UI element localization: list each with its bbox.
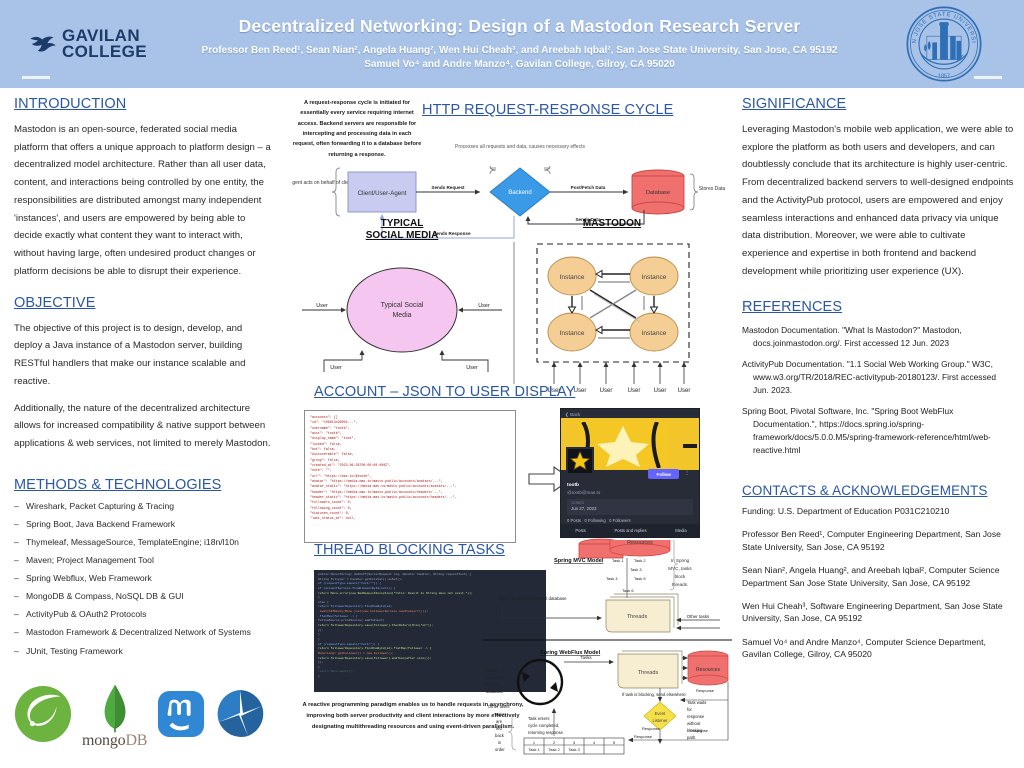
mvc-task-label: Task 1 — [612, 558, 624, 563]
json-code-block: "accounts": [] "id": "109613426004...", … — [304, 410, 516, 543]
list-item: Wireshark, Packet Capturing & Tracing — [14, 502, 272, 511]
fed-back-note-6: order — [495, 747, 505, 752]
contact-entry: Wen Hui Cheah³, Software Engineering Dep… — [742, 600, 1014, 625]
mvc-model-title: Spring MVC Model — [554, 558, 604, 564]
back-link[interactable]: ❮ Back — [561, 409, 699, 418]
heading-significance: SIGNIFICANCE — [742, 96, 1014, 112]
reference-item: ActivityPub Documentation. "1.1 Social W… — [742, 358, 1014, 397]
webflux-db-note-4: database — [486, 689, 504, 694]
right-column: SIGNIFICANCE Leveraging Mastodon's mobil… — [742, 96, 1014, 672]
webflux-tasks-label: Tasks — [580, 655, 592, 660]
methods-list: Wireshark, Packet Capturing & Tracing Sp… — [14, 502, 272, 655]
fed-back-note-3: fed — [496, 726, 502, 731]
reference-item: Mastodon Documentation. "What Is Mastodo… — [742, 324, 1014, 350]
contact-entry: Samuel Vo⁴ and Andre Manzo⁴, Computer Sc… — [742, 636, 1014, 661]
blocking-note: If task is blocking, send elsewhere: — [622, 692, 687, 697]
event-listener-label-2: Listener — [653, 718, 669, 723]
mongodb-text-db: DB — [125, 732, 147, 749]
arrow-label-sends-request: Sends Request — [431, 185, 465, 190]
cycle-note-3: returning response — [528, 730, 564, 735]
database-label: Database — [646, 190, 670, 196]
typical-user-label: User — [478, 303, 490, 309]
webflux-db-note-1: Needs — [486, 668, 498, 673]
user-label: User — [574, 388, 587, 394]
typical-node-label-1: Typical Social — [381, 302, 424, 309]
joined-field: JOINED Jun 27, 2023 — [567, 499, 693, 515]
thread-models-diagram: Spring MVC Model Resources Task 1 Task 2… — [482, 540, 732, 756]
heading-methods: METHODS & TECHNOLOGIES — [14, 477, 272, 493]
spring-logo-icon — [14, 685, 72, 743]
response-label: Response — [690, 728, 709, 733]
profile-handle: @tootb@mas.to — [567, 490, 600, 495]
follow-button[interactable]: Follow — [648, 469, 679, 479]
contact-entry: Sean Nian², Angela Huang², and Areebah I… — [742, 564, 1014, 589]
event-listener-label-1: Event — [655, 711, 667, 716]
typical-user-label: User — [316, 303, 328, 309]
joined-label: JOINED — [571, 501, 689, 505]
heading-http-cycle: HTTP REQUEST-RESPONSE CYCLE — [422, 102, 673, 118]
threads-label: Threads — [638, 670, 659, 676]
resources-label: Resources — [696, 667, 720, 673]
other-tasks-label: Other tasks — [687, 614, 710, 619]
mongodb-text-mongo: mongo — [82, 732, 125, 749]
header-text-block: Decentralized Networking: Design of a Ma… — [175, 16, 864, 73]
mvc-block-note-2: MVC, tasks — [668, 566, 692, 571]
heading-account-json: ACCOUNT – JSON TO USER DISPLAY — [314, 384, 575, 400]
thread-models-svg: Spring MVC Model Resources Task 1 Task 2… — [482, 540, 732, 756]
fed-back-note-4: back — [495, 733, 505, 738]
other-tasks-label-webflux: Other tasks — [488, 704, 509, 709]
poster-root: GAVILAN COLLEGE Decentralized Networking… — [0, 0, 1024, 768]
typical-title-line-1: TYPICAL — [381, 218, 424, 229]
mvc-block-note-3: block — [675, 574, 686, 579]
funding-line: Funding: U.S. Department of Education P0… — [742, 505, 1014, 517]
user-label: User — [628, 388, 641, 394]
mvc-task-label: Task 4 — [606, 576, 618, 581]
left-column: INTRODUCTION Mastodon is an open-source,… — [14, 96, 272, 665]
mvc-db-note: Needs to access external database — [498, 596, 567, 601]
list-item: ActivityPub & OAuth2 Protocols — [14, 610, 272, 619]
poster-authors-line-1: Professor Ben Reed¹, Sean Nian², Angela … — [181, 44, 858, 59]
list-item: Mastodon Framework & Decentralized Netwo… — [14, 628, 272, 637]
reference-item: Spring Boot, Pivotal Software, Inc. "Spr… — [742, 405, 1014, 457]
tab-posts-and-replies[interactable]: Posts and replies — [614, 528, 646, 533]
task-wait-note-6: path. — [687, 735, 696, 740]
instance-label: Instance — [642, 274, 667, 281]
sjsu-seal-icon: 1857 SAN JOSE STATE UNIVERSITY — [905, 5, 983, 83]
task-wait-note-1: Task waits — [687, 700, 706, 705]
contact-entry: Professor Ben Reed¹, Computer Engineerin… — [742, 528, 1014, 553]
significance-body: Leveraging Mastodon's mobile web applica… — [742, 121, 1014, 281]
joined-value: Jun 27, 2023 — [571, 506, 689, 511]
fed-back-note-1: Tasks — [494, 712, 505, 717]
tab-posts[interactable]: Posts — [575, 528, 585, 533]
college-text: COLLEGE — [62, 44, 147, 60]
mongodb-leaf-icon — [102, 682, 128, 734]
backend-diamond-label: Backend — [508, 190, 531, 196]
queue-task: Task 3 — [568, 747, 580, 752]
fed-back-note-2: are — [496, 719, 503, 724]
star-avatar-icon — [569, 450, 591, 472]
response-label: Response — [634, 734, 653, 739]
technology-logos: mongoDB — [14, 668, 294, 764]
database-note: Stores Data — [699, 186, 726, 192]
profile-tabs: Posts Posts and replies Media — [561, 524, 700, 537]
user-label: User — [654, 388, 667, 394]
mvc-task-label: Task 2 — [634, 558, 646, 563]
list-item: Thymeleaf, MessageSource, TemplateEngine… — [14, 538, 272, 547]
mastodon-logo-box — [157, 690, 205, 743]
webflux-db-note-3: external — [486, 682, 501, 687]
header-rule-right — [974, 76, 1002, 79]
client-box-label: Client/User-Agent — [358, 190, 407, 197]
heading-contacts: CONTACTS & ACKNOWLEDGEMENTS — [742, 483, 1014, 498]
mvc-block-note-1: In Spring — [671, 558, 690, 563]
response-label: Response — [696, 688, 715, 693]
threads-label: Threads — [627, 614, 648, 620]
typical-user-label: User — [466, 365, 478, 371]
poster-header: GAVILAN COLLEGE Decentralized Networking… — [0, 0, 1024, 88]
objective-paragraph-2: Additionally, the nature of the decentra… — [14, 400, 272, 453]
introduction-body: Mastodon is an open-source, federated so… — [14, 121, 272, 281]
eagle-icon — [28, 32, 58, 56]
user-label: User — [678, 388, 691, 394]
heading-thread-blocking: THREAD BLOCKING TASKS — [314, 542, 505, 558]
list-item: MongoDB & Compass, NoSQL DB & GUI — [14, 592, 272, 601]
spring-logo-box — [14, 685, 72, 748]
json-line: "last_status_at": null, — [310, 516, 512, 521]
more-options-icon[interactable]: ⋮ — [684, 469, 690, 476]
webflux-db-note-2: to access — [486, 675, 504, 680]
typical-user-label: User — [330, 365, 342, 371]
cycle-note-2: cycle completed, — [528, 723, 559, 728]
poster-authors-line-2: Samuel Vo⁴ and Andre Manzo⁴, Gavilan Col… — [181, 58, 858, 73]
avatar — [566, 447, 594, 475]
backend-note-line: Processes all requests and data, causes … — [455, 144, 585, 150]
gavilan-wordmark: GAVILAN COLLEGE — [62, 28, 147, 59]
resources-label: Resources — [627, 540, 653, 546]
mongodb-wordmark: mongoDB — [82, 732, 147, 750]
task-wait-note-3: response — [687, 714, 705, 719]
queue-task: Task 1 — [528, 747, 540, 752]
instance-label: Instance — [560, 274, 585, 281]
heading-introduction: INTRODUCTION — [14, 96, 272, 112]
profile-stats: 0 Posts 0 Following 0 Followers — [567, 518, 631, 523]
list-item: Spring Webflux, Web Framework — [14, 574, 272, 583]
arrow-label-post-fetch: Post/Fetch Data — [571, 185, 606, 190]
task-wait-note-4: without — [687, 721, 701, 726]
stat-followers: 0 Followers — [609, 518, 630, 523]
instance-label: Instance — [560, 330, 585, 337]
sjsu-seal-year: 1857 — [938, 74, 950, 80]
list-item: Maven; Project Management Tool — [14, 556, 272, 565]
response-label: Response — [642, 726, 661, 731]
mastodon-logo-icon — [157, 690, 205, 738]
list-item: JUnit, Testing Framework — [14, 647, 272, 656]
objective-paragraph-1: The objective of this project is to desi… — [14, 320, 272, 391]
mastodon-title: MASTODON — [583, 218, 641, 229]
mvc-task-label: Task 3 — [630, 567, 642, 572]
poster-title: Decentralized Networking: Design of a Ma… — [181, 16, 858, 37]
mastodon-profile-screenshot: ❮ Back Follow ⋮ toot — [560, 408, 700, 538]
junit-logo-icon — [215, 689, 265, 739]
comparison-svg: TYPICAL SOCIAL MEDIA MASTODON Typical So… — [292, 214, 732, 394]
cycle-note-1: Task enters — [528, 716, 549, 721]
mongodb-logo-box: mongoDB — [82, 682, 147, 750]
fed-back-note-5: in — [498, 740, 502, 745]
stat-following: 0 Following — [584, 518, 605, 523]
typical-title-line-2: SOCIAL MEDIA — [366, 230, 439, 241]
tab-media[interactable]: Media — [675, 528, 686, 533]
gavilan-logo-container: GAVILAN COLLEGE — [0, 0, 175, 88]
task-wait-note-2: for — [687, 707, 692, 712]
instance-label: Instance — [642, 330, 667, 337]
gavilan-college-logo: GAVILAN COLLEGE — [28, 28, 147, 59]
profile-display-name: tootb — [567, 483, 579, 488]
mvc-task-label: Task 5 — [634, 576, 646, 581]
heading-references: REFERENCES — [742, 299, 1014, 315]
stat-posts: 0 Posts — [567, 518, 581, 523]
sjsu-logo-container: 1857 SAN JOSE STATE UNIVERSITY — [864, 0, 1024, 88]
queue-task: Task 2 — [548, 747, 560, 752]
heading-objective: OBJECTIVE — [14, 295, 272, 311]
mvc-task-label: Task 6 — [622, 588, 634, 593]
junit-logo-box — [215, 689, 265, 744]
banner-bar — [683, 444, 697, 448]
typical-node-label-2: Media — [392, 312, 411, 319]
user-label: User — [600, 388, 613, 394]
list-item: Spring Boot, Java Backend Framework — [14, 520, 272, 529]
header-rule-left — [22, 76, 50, 79]
user-agent-note-1: User-Agent acts on behalf of client — [292, 180, 354, 186]
